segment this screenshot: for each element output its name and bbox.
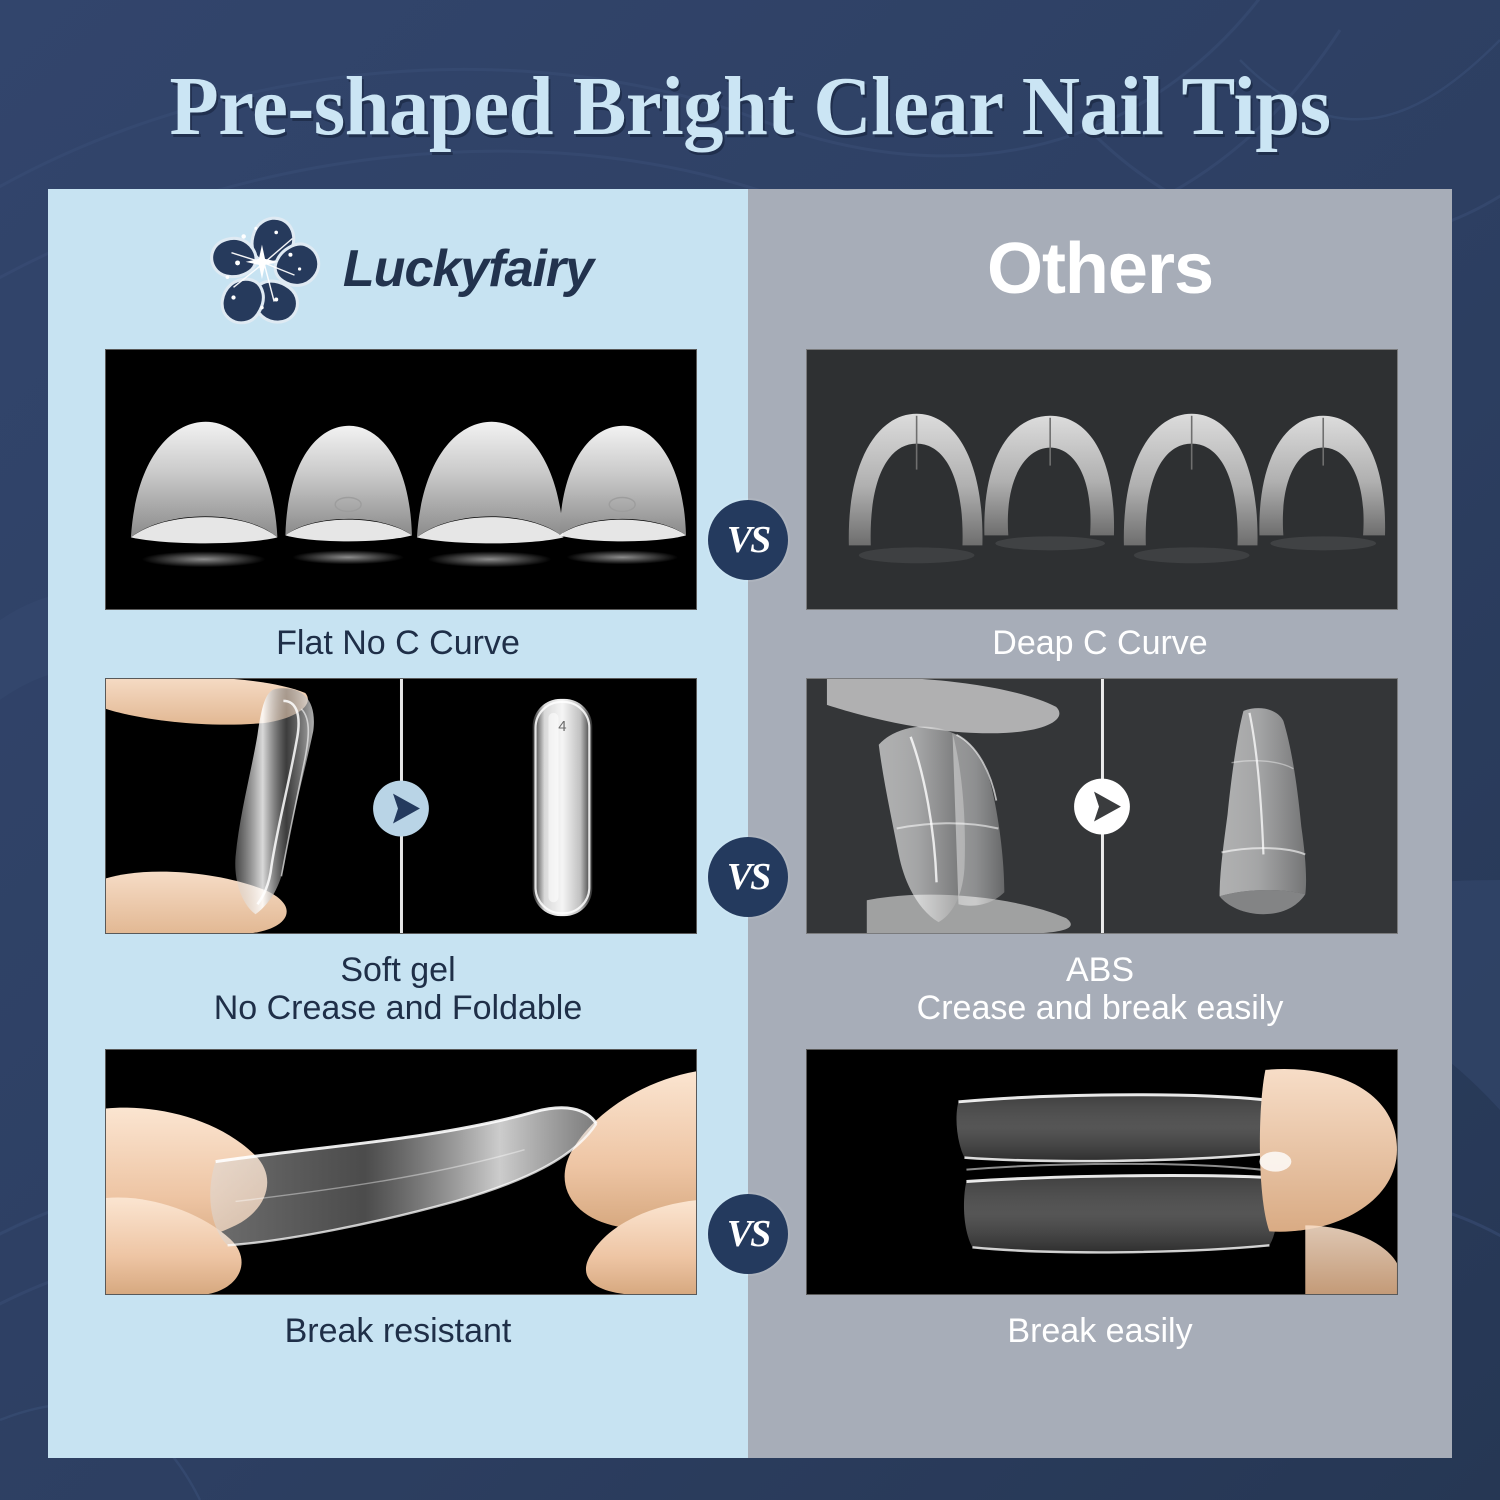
vs-badge-row-3: VS — [708, 1194, 788, 1274]
right-row-2-caption-line1: ABS — [1066, 951, 1134, 989]
right-row-3-caption-line1: Break easily — [1007, 1312, 1192, 1350]
right-row-1-caption: Deap C Curve — [748, 615, 1452, 662]
right-row-1-caption-line1: Deap C Curve — [992, 624, 1207, 662]
break-resistant-illustration — [106, 1050, 696, 1295]
others-column: Others — [748, 189, 1452, 1458]
svg-text:4: 4 — [558, 718, 566, 735]
vs-badge-row-2-label: VS — [727, 858, 769, 896]
others-heading: Others — [987, 228, 1213, 310]
flower-sparkle-logo-icon — [203, 208, 325, 330]
right-row-1-media — [806, 349, 1398, 610]
left-row-2-caption-line2: No Crease and Foldable — [48, 989, 748, 1027]
brand-name: Luckyfairy — [343, 239, 593, 299]
comparison-panel: Luckyfairy — [48, 189, 1452, 1458]
soft-gel-fold-illustration: 4 — [106, 679, 696, 934]
right-row-3-media — [806, 1049, 1398, 1295]
left-row-3-caption-line1: Break resistant — [285, 1312, 512, 1350]
brand-header: Luckyfairy — [48, 189, 748, 349]
left-row-3-caption: Break resistant — [48, 1303, 748, 1350]
left-row-2-media: 4 — [105, 678, 697, 934]
abs-crease-illustration — [807, 679, 1397, 934]
flat-no-c-curve-illustration — [106, 350, 696, 610]
right-row-3-caption: Break easily — [748, 1303, 1452, 1350]
right-row-2-caption: ABS Crease and break easily — [748, 942, 1452, 1028]
left-row-1-media — [105, 349, 697, 610]
brand-column: Luckyfairy — [48, 189, 748, 1458]
page-title: Pre-shaped Bright Clear Nail Tips — [30, 58, 1470, 155]
left-row-1-caption-line1: Flat No C Curve — [276, 624, 520, 662]
left-row-2-caption: Soft gel No Crease and Foldable — [48, 942, 748, 1028]
left-row-1-caption: Flat No C Curve — [48, 615, 748, 662]
deep-c-curve-illustration — [807, 350, 1397, 610]
right-row-2-caption-line2: Crease and break easily — [748, 989, 1452, 1027]
vs-badge-row-1-label: VS — [727, 521, 769, 559]
right-row-2-media — [806, 678, 1398, 934]
vs-badge-row-3-label: VS — [727, 1215, 769, 1253]
left-row-3-media — [105, 1049, 697, 1295]
vs-badge-row-1: VS — [708, 500, 788, 580]
vs-badge-row-2: VS — [708, 837, 788, 917]
break-easily-illustration — [807, 1050, 1397, 1295]
left-row-2-caption-line1: Soft gel — [340, 951, 455, 989]
others-header: Others — [748, 189, 1452, 349]
